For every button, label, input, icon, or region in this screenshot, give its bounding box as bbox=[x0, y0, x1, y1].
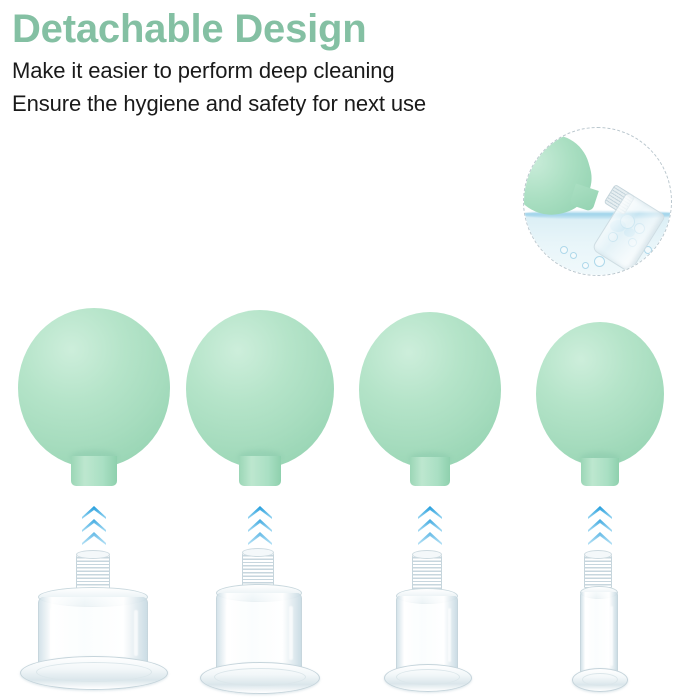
cup-rim-inner bbox=[582, 673, 618, 686]
washing-demo-clip bbox=[524, 128, 671, 275]
bulb-neck bbox=[581, 458, 619, 486]
water-bubble bbox=[570, 252, 577, 259]
glass-cup-1 bbox=[14, 552, 174, 697]
chevron-up-icon bbox=[588, 506, 612, 519]
cup-highlight bbox=[404, 606, 408, 666]
attach-arrow-4 bbox=[588, 506, 612, 546]
bulb-ball bbox=[359, 312, 501, 468]
attach-arrow-3 bbox=[418, 506, 442, 546]
chevron-up-icon bbox=[588, 532, 612, 545]
glass-cup-3 bbox=[356, 552, 504, 700]
silicone-bulb-1 bbox=[14, 300, 174, 485]
attach-arrow-1 bbox=[82, 506, 106, 546]
cup-highlight bbox=[50, 608, 55, 660]
chevron-up-icon bbox=[248, 532, 272, 545]
cup-rim-inner bbox=[396, 669, 460, 685]
header-block: Detachable Design Make it easier to perf… bbox=[12, 4, 532, 120]
cup-highlight bbox=[448, 608, 451, 662]
cup-nozzle-cap bbox=[76, 550, 110, 559]
chevron-up-icon bbox=[418, 519, 442, 532]
chevron-up-icon bbox=[248, 519, 272, 532]
silicone-bulb-4 bbox=[532, 300, 668, 485]
cup-rim-inner bbox=[36, 662, 152, 682]
attach-arrow-2 bbox=[248, 506, 272, 546]
cup-highlight bbox=[134, 610, 138, 656]
subtitle-line-1: Make it easier to perform deep cleaning bbox=[12, 54, 532, 87]
chevron-up-icon bbox=[588, 519, 612, 532]
bulb-ball bbox=[186, 310, 334, 468]
cup-nozzle bbox=[584, 554, 612, 588]
cup-nozzle bbox=[242, 552, 274, 588]
cup-highlight bbox=[226, 604, 231, 664]
silicone-bulb-2 bbox=[184, 300, 336, 485]
cup-rim-inner bbox=[214, 668, 306, 686]
glass-cup-4 bbox=[532, 552, 668, 700]
cup-highlight bbox=[289, 606, 293, 660]
chevron-up-icon bbox=[418, 532, 442, 545]
water-bubble bbox=[582, 262, 589, 269]
cup-nozzle bbox=[412, 554, 442, 590]
page-title: Detachable Design bbox=[12, 4, 532, 54]
cup-highlight bbox=[586, 604, 589, 670]
bulb-neck bbox=[71, 456, 117, 486]
cup-highlight bbox=[610, 606, 613, 666]
chevron-up-icon bbox=[418, 506, 442, 519]
silicone-bulb-3 bbox=[356, 300, 504, 485]
cup-nozzle-cap bbox=[584, 550, 612, 559]
chevron-up-icon bbox=[82, 519, 106, 532]
cup-nozzle-cap bbox=[412, 550, 442, 559]
chevron-up-icon bbox=[82, 532, 106, 545]
bulb-ball bbox=[18, 308, 170, 468]
bulb-neck bbox=[410, 457, 450, 486]
chevron-up-icon bbox=[248, 506, 272, 519]
cup-nozzle-cap bbox=[242, 548, 274, 557]
subtitle-line-2: Ensure the hygiene and safety for next u… bbox=[12, 87, 532, 120]
glass-cup-2 bbox=[184, 550, 336, 698]
bulb-ball bbox=[536, 322, 664, 466]
bulb-neck bbox=[239, 456, 281, 486]
water-bubble bbox=[560, 246, 568, 254]
chevron-up-icon bbox=[82, 506, 106, 519]
washing-demo-circle bbox=[523, 127, 672, 276]
